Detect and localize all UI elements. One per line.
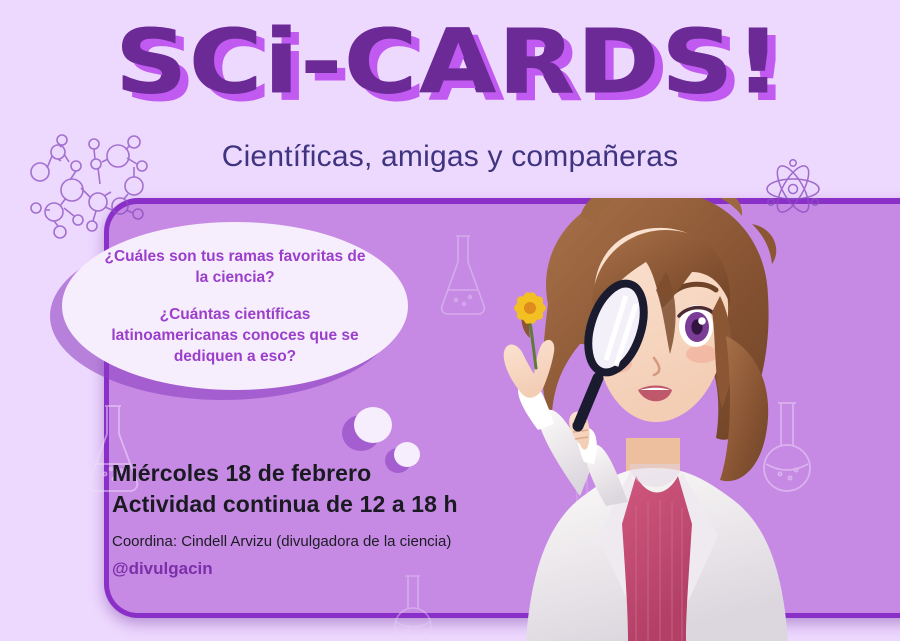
thought-bubble: ¿Cuáles son tus ramas favoritas de la ci…	[62, 222, 408, 390]
event-coordinator: Coordina: Cindell Arvizu (divulgadora de…	[112, 531, 532, 553]
social-handle[interactable]: @divulgacin	[112, 557, 532, 581]
poster-canvas: SCi-CARDS! Científicas, amigas y compañe…	[0, 0, 900, 641]
page-title: SCi-CARDS!	[116, 11, 783, 113]
event-schedule: Actividad continua de 12 a 18 h	[112, 489, 532, 520]
thought-bubble-text: ¿Cuáles son tus ramas favoritas de la ci…	[62, 222, 408, 390]
title-container: SCi-CARDS!	[0, 14, 900, 110]
thought-bubble-question-2: ¿Cuántas científicas latinoamericanas co…	[96, 304, 374, 367]
thought-bubble-dot-large	[354, 407, 392, 443]
event-date: Miércoles 18 de febrero	[112, 458, 532, 489]
poster-subtitle: Científicas, amigas y compañeras	[0, 138, 900, 176]
thought-bubble-question-1: ¿Cuáles son tus ramas favoritas de la ci…	[96, 246, 374, 288]
event-info-block: Miércoles 18 de febrero Actividad contin…	[112, 458, 532, 581]
